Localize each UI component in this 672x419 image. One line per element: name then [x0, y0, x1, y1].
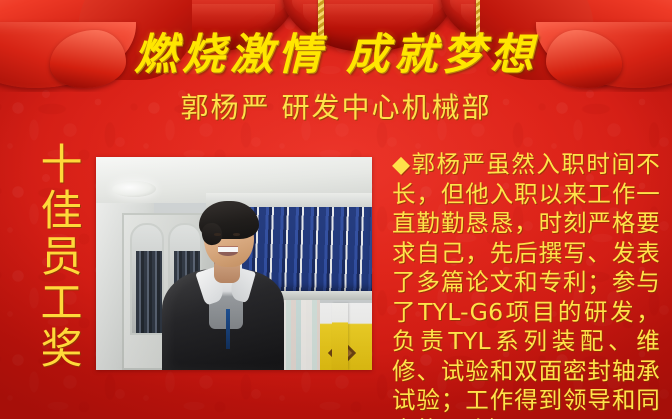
employee-description: ◆郭杨严虽然入职时间不长，但他入职以来工作一直勤勤恳恳，时刻严格要求自己，先后撰… — [392, 150, 660, 419]
ceiling-lamp — [112, 181, 156, 197]
award-label-vertical: 十佳员工奖 — [34, 142, 82, 372]
employee-photo — [96, 157, 372, 370]
award-poster: 燃烧激情 成就梦想 郭杨严 研发中心机械部 十佳员工奖 ◆郭杨严虽然入职时间不长… — [0, 0, 672, 419]
page-title: 燃烧激情 成就梦想 — [0, 30, 672, 80]
page-subtitle: 郭杨严 研发中心机械部 — [0, 90, 672, 126]
